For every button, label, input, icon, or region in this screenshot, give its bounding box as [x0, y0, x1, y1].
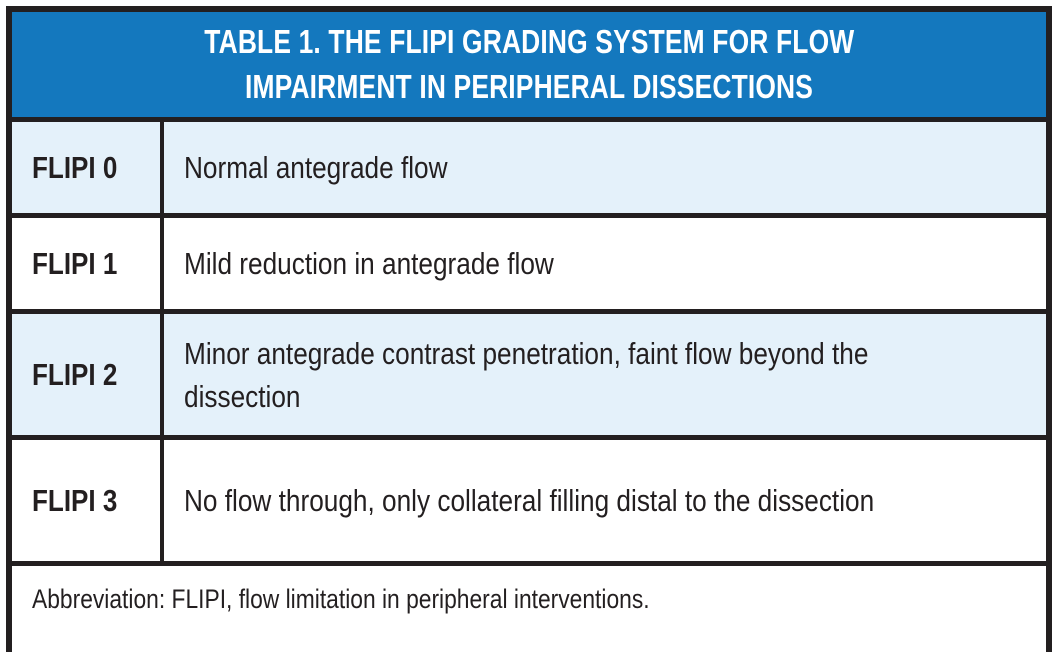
table-cell-grade-label: FLIPI 1	[12, 218, 164, 309]
table-row: FLIPI 1 Mild reduction in antegrade flow	[12, 218, 1046, 314]
table-header-banner: TABLE 1. THE FLIPI GRADING SYSTEM FOR FL…	[12, 12, 1046, 122]
description-text: Minor antegrade contrast penetration, fa…	[184, 332, 902, 418]
table-cell-grade-label: FLIPI 3	[12, 440, 164, 561]
grade-label-text: FLIPI 3	[32, 484, 117, 517]
table-body: FLIPI 0 Normal antegrade flow FLIPI 1 Mi…	[12, 122, 1046, 656]
table-title-line-2: IMPAIRMENT IN PERIPHERAL DISSECTIONS	[245, 64, 813, 109]
table-row: FLIPI 0 Normal antegrade flow	[12, 122, 1046, 218]
description-text: Normal antegrade flow	[184, 146, 902, 189]
table-row: FLIPI 3 No flow through, only collateral…	[12, 440, 1046, 566]
table-cell-description: Mild reduction in antegrade flow	[164, 218, 1046, 309]
table-cell-description: Normal antegrade flow	[164, 122, 1046, 213]
table-footnote-row: Abbreviation: FLIPI, flow limitation in …	[12, 566, 1046, 656]
table-cell-description: Minor antegrade contrast penetration, fa…	[164, 314, 1046, 435]
table-title-line-1: TABLE 1. THE FLIPI GRADING SYSTEM FOR FL…	[204, 19, 854, 64]
table-cell-grade-label: FLIPI 0	[12, 122, 164, 213]
description-text: Mild reduction in antegrade flow	[184, 242, 902, 285]
table-container: TABLE 1. THE FLIPI GRADING SYSTEM FOR FL…	[6, 6, 1052, 652]
table-row: FLIPI 2 Minor antegrade contrast penetra…	[12, 314, 1046, 440]
table-cell-description: No flow through, only collateral filling…	[164, 440, 1046, 561]
description-text: No flow through, only collateral filling…	[184, 479, 902, 522]
abbreviation-note-text: Abbreviation: FLIPI, flow limitation in …	[32, 583, 650, 615]
table-cell-grade-label: FLIPI 2	[12, 314, 164, 435]
grade-label-text: FLIPI 0	[32, 151, 117, 184]
grade-label-text: FLIPI 1	[32, 247, 117, 280]
grade-label-text: FLIPI 2	[32, 358, 117, 391]
